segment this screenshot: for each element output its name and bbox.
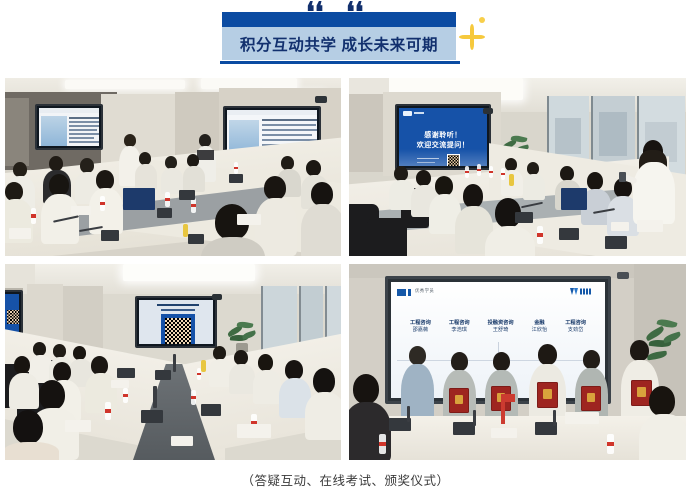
- sparkle-dot-icon: [479, 17, 485, 23]
- award-entry: 工程咨询 李浩琪: [449, 320, 470, 334]
- caption-text: （答疑互动、在线考试、颁奖仪式）: [0, 470, 691, 489]
- photo-bottom-left: [5, 264, 341, 460]
- poster-page: ❛❛ ❛❛ 积分互动共学 成长未来可期: [0, 0, 691, 495]
- title-banner: ❛❛ ❛❛ 积分互动共学 成长未来可期: [222, 0, 458, 72]
- sparkle-star-icon: [459, 24, 485, 50]
- company-logo-icon: [569, 287, 595, 296]
- award-entry: 工程咨询 支劲岱: [565, 320, 586, 334]
- qr-code-icon: [7, 310, 19, 324]
- projection-screen: [135, 296, 217, 348]
- banner-top-bar: [222, 12, 456, 27]
- banner-title: 积分互动共学 成长未来可期: [222, 27, 456, 60]
- slide-line-2: 欢迎交流提问！: [399, 140, 487, 150]
- quote-mark-left-icon: ❛❛: [306, 0, 323, 26]
- quote-mark-right-icon: ❛❛: [346, 0, 363, 26]
- slide-accent-block: [397, 289, 406, 296]
- award-entry: 投融资咨询 王舒琦: [488, 320, 514, 334]
- photo-bottom-right: 优秀学员: [349, 264, 686, 460]
- slide-line-1: 感谢聆听！: [399, 130, 487, 140]
- slide-accent-block-2: [408, 289, 411, 296]
- qr-code-icon: [447, 154, 460, 166]
- award-entry: 金融 江欣怡: [532, 320, 548, 334]
- presentation-screen: 感谢聆听！ 欢迎交流提问！: [395, 104, 491, 170]
- qr-code-icon: [161, 314, 195, 344]
- award-entry: 工程咨询 邵嘉薇: [410, 320, 431, 334]
- photo-grid: 感谢聆听！ 欢迎交流提问！: [5, 78, 686, 462]
- company-logo: [569, 287, 595, 298]
- photo-top-right: 感谢聆听！ 欢迎交流提问！: [349, 78, 686, 256]
- slide-section-label: 优秀学员: [415, 288, 434, 294]
- display-screen-left: [35, 104, 103, 150]
- award-list: 工程咨询 邵嘉薇 工程咨询 李浩琪 投融资咨询 王舒琦 金融: [401, 320, 595, 334]
- photo-top-left: [5, 78, 341, 256]
- banner-underline: [220, 61, 460, 64]
